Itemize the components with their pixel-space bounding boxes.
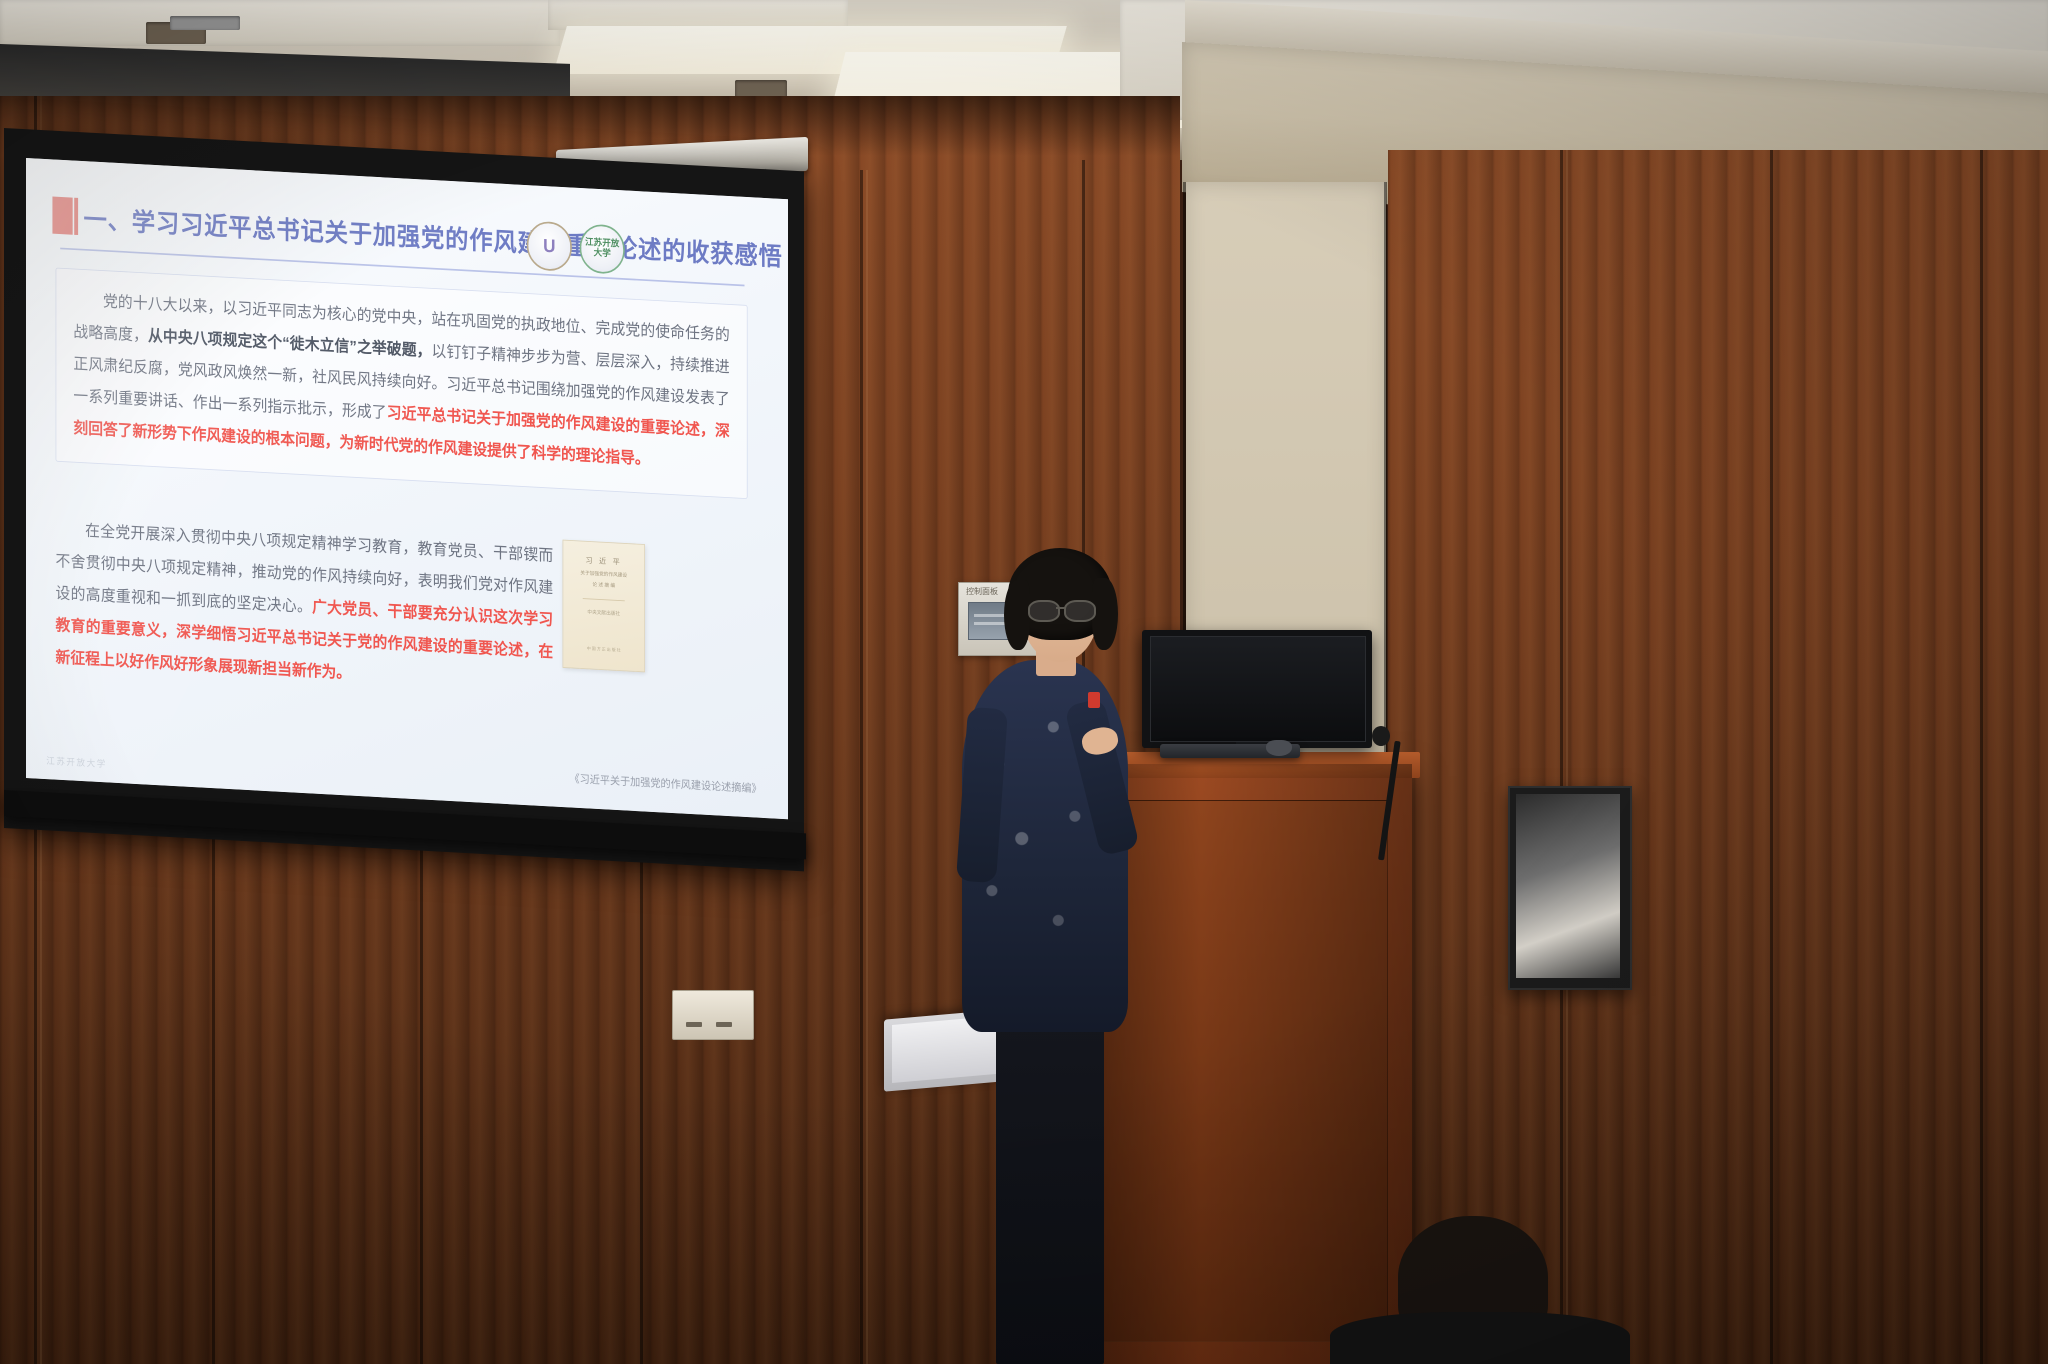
slide-citation: 《习近平关于加强党的作风建设论述摘编》 <box>570 769 762 795</box>
slide-accent-bar <box>52 197 72 235</box>
slide-logos: U 江苏开放大学 <box>527 221 625 275</box>
presenter-glasses-left-lens <box>1028 600 1060 622</box>
mouse[interactable] <box>1266 740 1292 756</box>
wall-power-outlet[interactable] <box>672 990 754 1040</box>
outlet-slot-2 <box>716 1022 732 1027</box>
presenter-glasses-right-lens <box>1064 600 1096 622</box>
ceiling-vent-2 <box>170 16 240 30</box>
book-publisher: 中央文献出版社 <box>563 606 644 618</box>
podium-monitor-screen <box>1150 636 1366 742</box>
university-logo-icon: U <box>527 221 572 272</box>
book-divider <box>583 598 625 601</box>
wall-seam-3 <box>420 800 423 1364</box>
ceiling-panel-1 <box>0 0 560 46</box>
wall-seam-r2 <box>1770 150 1773 1364</box>
slide-paragraph2: 在全党开展深入贯彻中央八项规定精神学习教育，教育党员、干部锲而不舍贯彻中央八项规… <box>56 514 554 701</box>
microphone-head <box>1372 726 1390 746</box>
book-footer: 中 国 方 正 出 版 社 <box>563 644 644 654</box>
wall-seam-r1 <box>1560 150 1563 1364</box>
slide-paragraph1-box: 党的十八大以来，以习近平同志为核心的党中央，站在巩固党的执政地位、完成党的使命任… <box>56 268 748 499</box>
slide-paragraph2-wrap: 在全党开展深入贯彻中央八项规定精神学习教育，教育党员、干部锲而不舍贯彻中央八项规… <box>56 514 554 701</box>
presenter-party-badge <box>1088 692 1100 708</box>
wall-seam-4 <box>640 790 643 1364</box>
slide-footer-mark: 江苏开放大学 <box>46 754 107 771</box>
book-title-line2: 关于加强党的作风建设 <box>563 569 644 581</box>
slide-paragraph1: 党的十八大以来，以习近平同志为核心的党中央，站在巩固党的执政地位、完成党的使命任… <box>73 285 729 481</box>
book-title-line3: 论 述 摘 编 <box>563 580 644 592</box>
slide-heading-row: 一、学习习近平总书记关于加强党的作风建设重要论述的收获感悟 <box>52 197 782 274</box>
slide-heading: 一、学习习近平总书记关于加强党的作风建设重要论述的收获感悟 <box>84 198 783 273</box>
presenter-skirt <box>996 1010 1104 1364</box>
powerpoint-slide: 一、学习习近平总书记关于加强党的作风建设重要论述的收获感悟 U 江苏开放大学 党… <box>26 158 788 819</box>
projection-screen-surface: 一、学习习近平总书记关于加强党的作风建设重要论述的收获感悟 U 江苏开放大学 党… <box>26 158 788 819</box>
av-panel-label: 控制面板 <box>966 586 998 597</box>
presenter-hair-side <box>1004 580 1030 650</box>
wall-highlight-r1 <box>1566 150 1568 1364</box>
wall-wood-right <box>1388 150 2048 1364</box>
photo-scene: CNV 一、学习习近平总书记关于加强党的作风建设重要论述的收获感悟 U 江苏开放… <box>0 0 2048 1364</box>
book-title-line1: 习 近 平 <box>563 554 644 570</box>
wall-seam-2 <box>212 820 215 1364</box>
wall-highlight-2 <box>866 170 868 1364</box>
outlet-slot-1 <box>686 1022 702 1027</box>
wall-seam-5 <box>860 170 863 1364</box>
p1-red-part: 习近平总书记关于加强党的作风建设的重要论述，深刻回答了新形势下作风建设的根本问题… <box>73 404 729 468</box>
wall-picture-art <box>1516 794 1620 978</box>
p2-plain-lead: 在全党开展深入贯彻中央八项规定精神学习教育，教育党员、干部锲而不舍贯彻中央八项规… <box>56 522 554 616</box>
open-university-logo-icon: 江苏开放大学 <box>580 223 625 274</box>
audience-shoulders <box>1330 1312 1630 1364</box>
p1-bold-part: 从中央八项规定这个“徙木立信”之举破题， <box>148 327 432 360</box>
presenter-glasses-bridge <box>1056 607 1065 609</box>
wall-seam-r3 <box>1980 150 1983 1364</box>
book-cover-image: 习 近 平 关于加强党的作风建设 论 述 摘 编 中央文献出版社 中 国 方 正… <box>563 540 645 673</box>
